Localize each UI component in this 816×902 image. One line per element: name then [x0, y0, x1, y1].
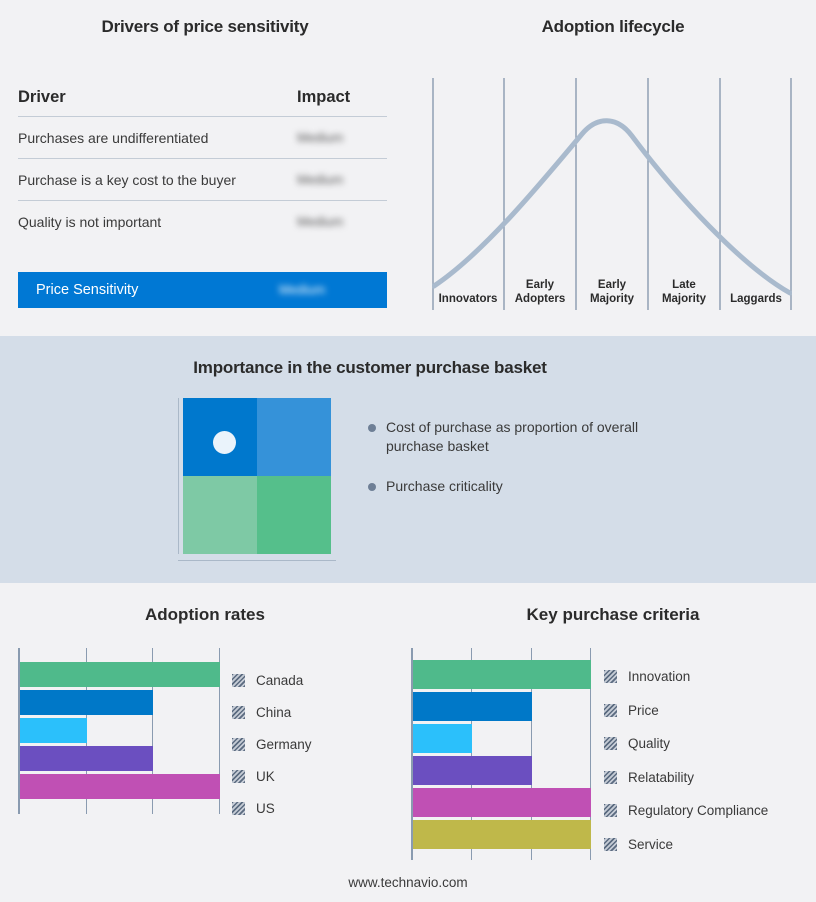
drivers-panel-title: Drivers of price sensitivity — [0, 17, 410, 37]
bar-regulatory-compliance — [413, 788, 591, 817]
bar-row — [20, 746, 220, 771]
bar-service — [413, 820, 591, 849]
legend-swatch-icon — [232, 802, 245, 815]
bar-price — [413, 692, 532, 721]
column-header-impact: Impact — [297, 88, 387, 107]
legend-item: Regulatory Compliance — [604, 794, 768, 828]
basket-panel-title: Importance in the customer purchase bask… — [0, 358, 740, 378]
legend-label: China — [256, 705, 291, 720]
quadrant-top-right — [257, 398, 331, 476]
lifecycle-segment-laggards: Laggards — [720, 262, 792, 310]
bar-germany — [20, 718, 87, 743]
impact-value-redacted: Medium — [297, 214, 343, 229]
adoption-rates-title: Adoption rates — [0, 605, 410, 625]
key-purchase-criteria-title: Key purchase criteria — [410, 605, 816, 625]
basket-legend: Cost of purchase as proportion of overal… — [368, 418, 668, 517]
legend-swatch-icon — [604, 838, 617, 851]
basket-legend-label: Cost of purchase as proportion of overal… — [386, 418, 646, 456]
bar-quality — [413, 724, 472, 753]
column-header-driver: Driver — [18, 88, 297, 107]
lifecycle-segment-late-majority: Late Majority — [648, 262, 720, 310]
impact-value-redacted: Medium — [279, 282, 325, 297]
legend-label: Service — [628, 837, 673, 852]
legend-item: Innovation — [604, 660, 768, 694]
legend-item: Quality — [604, 727, 768, 761]
legend-item: Germany — [232, 728, 312, 760]
bar-row — [413, 660, 591, 689]
segment-line1: Early — [598, 279, 626, 293]
lifecycle-segment-early-adopters: Early Adopters — [504, 262, 576, 310]
bar-china — [20, 690, 153, 715]
bar-row — [20, 774, 220, 799]
quadrant-bottom-right — [257, 476, 331, 554]
driver-name: Purchases are undifferentiated — [18, 130, 297, 146]
basket-legend-label: Purchase criticality — [386, 477, 503, 496]
bar-row — [20, 690, 220, 715]
adoption-rates-legend: CanadaChinaGermanyUKUS — [232, 664, 312, 824]
driver-name: Quality is not important — [18, 214, 297, 230]
key-purchase-criteria-legend: InnovationPriceQualityRelatabilityRegula… — [604, 660, 768, 861]
drivers-of-price-sensitivity-panel: Drivers of price sensitivity Driver Impa… — [0, 0, 410, 336]
criteria-bars — [413, 648, 591, 860]
bar-us — [20, 774, 220, 799]
table-row: Purchase is a key cost to the buyer Medi… — [18, 159, 387, 201]
list-item: Cost of purchase as proportion of overal… — [368, 418, 668, 456]
price-sensitivity-label: Price Sensitivity — [36, 282, 279, 298]
legend-label: UK — [256, 769, 275, 784]
price-sensitivity-impact-cell: Medium — [279, 281, 369, 299]
bar-row — [20, 662, 220, 687]
legend-item: Price — [604, 694, 768, 728]
footer-url: www.technavio.com — [0, 875, 816, 890]
bar-uk — [20, 746, 153, 771]
legend-label: Quality — [628, 736, 670, 751]
table-row: Purchases are undifferentiated Medium — [18, 117, 387, 159]
segment-line2: Laggards — [730, 293, 782, 307]
legend-item: Service — [604, 828, 768, 862]
legend-label: Innovation — [628, 669, 690, 684]
segment-line2: Innovators — [439, 293, 498, 307]
quadrant-grid — [183, 398, 331, 554]
purchase-basket-quadrant-chart — [183, 398, 338, 563]
list-item: Purchase criticality — [368, 477, 668, 496]
lifecycle-panel-title: Adoption lifecycle — [410, 17, 816, 37]
impact-value-redacted: Medium — [297, 130, 343, 145]
bar-row — [20, 718, 220, 743]
bar-canada — [20, 662, 220, 687]
legend-swatch-icon — [604, 737, 617, 750]
legend-label: Germany — [256, 737, 312, 752]
drivers-table: Driver Impact Purchases are undifferenti… — [18, 88, 387, 243]
bar-row — [413, 756, 591, 785]
legend-label: US — [256, 801, 275, 816]
legend-item: China — [232, 696, 312, 728]
legend-swatch-icon — [232, 770, 245, 783]
quadrant-position-marker — [213, 431, 236, 454]
legend-swatch-icon — [232, 706, 245, 719]
segment-line2: Majority — [590, 293, 634, 307]
driver-name: Purchase is a key cost to the buyer — [18, 172, 297, 188]
legend-item: Relatability — [604, 761, 768, 795]
bar-row — [413, 724, 591, 753]
impact-value-cell: Medium — [297, 171, 387, 189]
impact-value-redacted: Medium — [297, 172, 343, 187]
segment-line1: Early — [526, 279, 554, 293]
lifecycle-segment-labels: Innovators Early Adopters Early Majority… — [432, 262, 792, 310]
impact-value-cell: Medium — [297, 129, 387, 147]
key-purchase-criteria-plot — [411, 648, 591, 860]
bar-row — [413, 788, 591, 817]
bar-row — [413, 692, 591, 721]
table-row: Quality is not important Medium — [18, 201, 387, 243]
legend-item: US — [232, 792, 312, 824]
impact-value-cell: Medium — [297, 213, 387, 231]
lifecycle-segment-early-majority: Early Majority — [576, 262, 648, 310]
legend-swatch-icon — [232, 674, 245, 687]
bar-innovation — [413, 660, 591, 689]
legend-swatch-icon — [604, 771, 617, 784]
bullet-dot-icon — [368, 483, 376, 491]
legend-label: Price — [628, 703, 659, 718]
legend-item: Canada — [232, 664, 312, 696]
adoption-rates-bars — [20, 648, 220, 814]
legend-item: UK — [232, 760, 312, 792]
bullet-dot-icon — [368, 424, 376, 432]
lifecycle-segment-innovators: Innovators — [432, 262, 504, 310]
bar-row — [413, 820, 591, 849]
legend-label: Relatability — [628, 770, 694, 785]
segment-line2: Adopters — [515, 293, 565, 307]
legend-swatch-icon — [604, 704, 617, 717]
segment-line1: Late — [672, 279, 696, 293]
drivers-table-header-row: Driver Impact — [18, 88, 387, 117]
legend-label: Canada — [256, 673, 303, 688]
adoption-rates-plot — [18, 648, 220, 814]
adoption-lifecycle-panel: Adoption lifecycle Innovators Early Adop… — [410, 0, 816, 336]
segment-line2: Majority — [662, 293, 706, 307]
quadrant-y-axis — [178, 398, 179, 554]
price-sensitivity-highlight-row: Price Sensitivity Medium — [18, 272, 387, 308]
legend-label: Regulatory Compliance — [628, 803, 768, 818]
legend-swatch-icon — [232, 738, 245, 751]
quadrant-bottom-left — [183, 476, 257, 554]
quadrant-x-axis — [178, 560, 336, 561]
legend-swatch-icon — [604, 670, 617, 683]
bar-relatability — [413, 756, 532, 785]
legend-swatch-icon — [604, 804, 617, 817]
